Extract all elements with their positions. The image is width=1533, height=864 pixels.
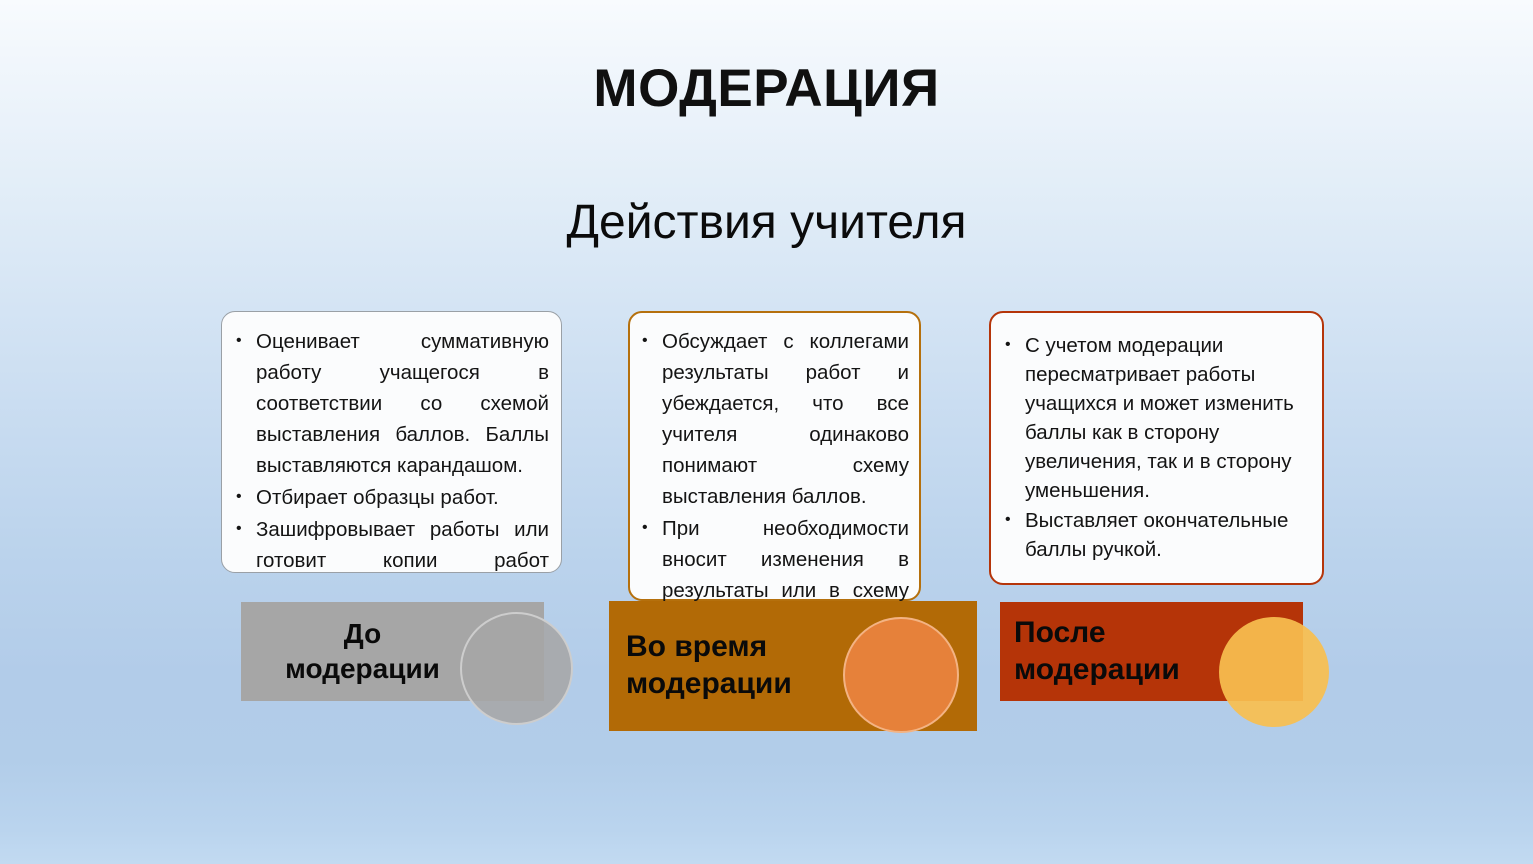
circle-decoration-during: [843, 617, 959, 733]
banner-label-before: До модерации: [267, 617, 458, 685]
page-subtitle: Действия учителя: [0, 195, 1533, 250]
card-during-moderation: Обсуждает с коллегами результаты работ и…: [628, 311, 921, 601]
card-after-moderation: С учетом модерации пересматривает работы…: [989, 311, 1324, 585]
card-before-moderation: Оценивает суммативную работу учащегося в…: [221, 311, 562, 573]
bullet-list-during: Обсуждает с коллегами результаты работ и…: [636, 326, 909, 637]
list-item: Отбирает образцы работ.: [230, 482, 549, 513]
circle-decoration-after: [1219, 617, 1329, 727]
page-title: МОДЕРАЦИЯ: [0, 58, 1533, 119]
list-item: С учетом модерации пересматривает работы…: [999, 331, 1312, 505]
slide-canvas: МОДЕРАЦИЯ Действия учителя Оценивает сум…: [0, 0, 1533, 864]
bullet-list-after: С учетом модерации пересматривает работы…: [999, 331, 1312, 564]
list-item: Зашифровывает работы или готовит копии р…: [230, 514, 549, 573]
list-item: Выставляет окончательные баллы ручкой.: [999, 506, 1312, 564]
circle-decoration-before: [460, 612, 573, 725]
list-item: Оценивает суммативную работу учащегося в…: [230, 326, 549, 481]
list-item: Обсуждает с коллегами результаты работ и…: [636, 326, 909, 512]
bullet-list-before: Оценивает суммативную работу учащегося в…: [230, 326, 549, 573]
